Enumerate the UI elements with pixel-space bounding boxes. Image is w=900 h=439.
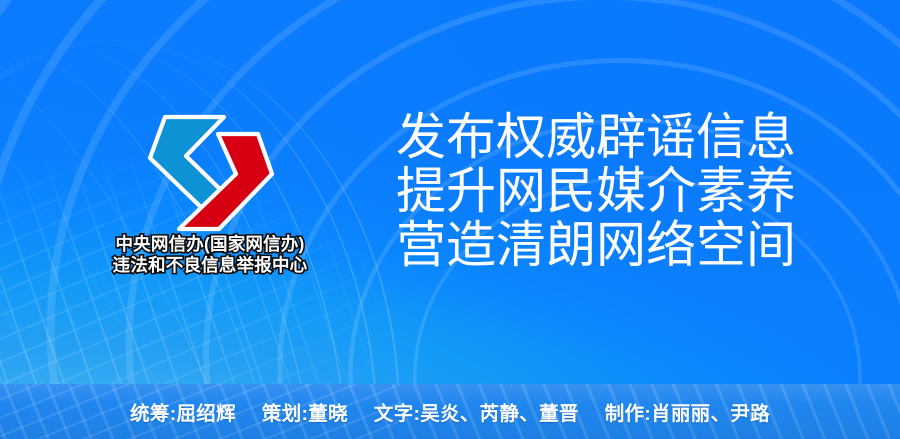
organization-name-line-2: 违法和不良信息举报中心 bbox=[96, 255, 324, 276]
organization-name-line-1: 中央网信办(国家网信办) bbox=[96, 234, 324, 255]
credit-item-writers: 文字:吴炎、芮静、董晋 bbox=[374, 397, 579, 426]
headline-line-3: 营造清朗网络空间 bbox=[396, 218, 816, 272]
credit-list: 统筹:屈绍辉 策划:董晓 文字:吴炎、芮静、董晋 制作:肖丽丽、尹路 bbox=[0, 384, 900, 439]
organization-name: 中央网信办(国家网信办) 违法和不良信息举报中心 bbox=[96, 234, 324, 276]
headline-line-2: 提升网民媒介素养 bbox=[396, 164, 816, 218]
credit-bar: 统筹:屈绍辉 策划:董晓 文字:吴炎、芮静、董晋 制作:肖丽丽、尹路 bbox=[0, 384, 900, 439]
credit-item-designers: 制作:肖丽丽、尹路 bbox=[605, 397, 770, 426]
poster-canvas: 中央网信办(国家网信办) 违法和不良信息举报中心 发布权威辟谣信息 提升网民媒介… bbox=[0, 0, 900, 439]
headline: 发布权威辟谣信息 提升网民媒介素养 营造清朗网络空间 bbox=[396, 110, 816, 272]
reporting-center-logo-icon bbox=[148, 112, 274, 234]
headline-line-1: 发布权威辟谣信息 bbox=[396, 110, 816, 164]
logo-block: 中央网信办(国家网信办) 违法和不良信息举报中心 bbox=[96, 112, 324, 287]
credit-item-planner: 策划:董晓 bbox=[262, 397, 348, 426]
credit-item-producer: 统筹:屈绍辉 bbox=[130, 397, 236, 426]
